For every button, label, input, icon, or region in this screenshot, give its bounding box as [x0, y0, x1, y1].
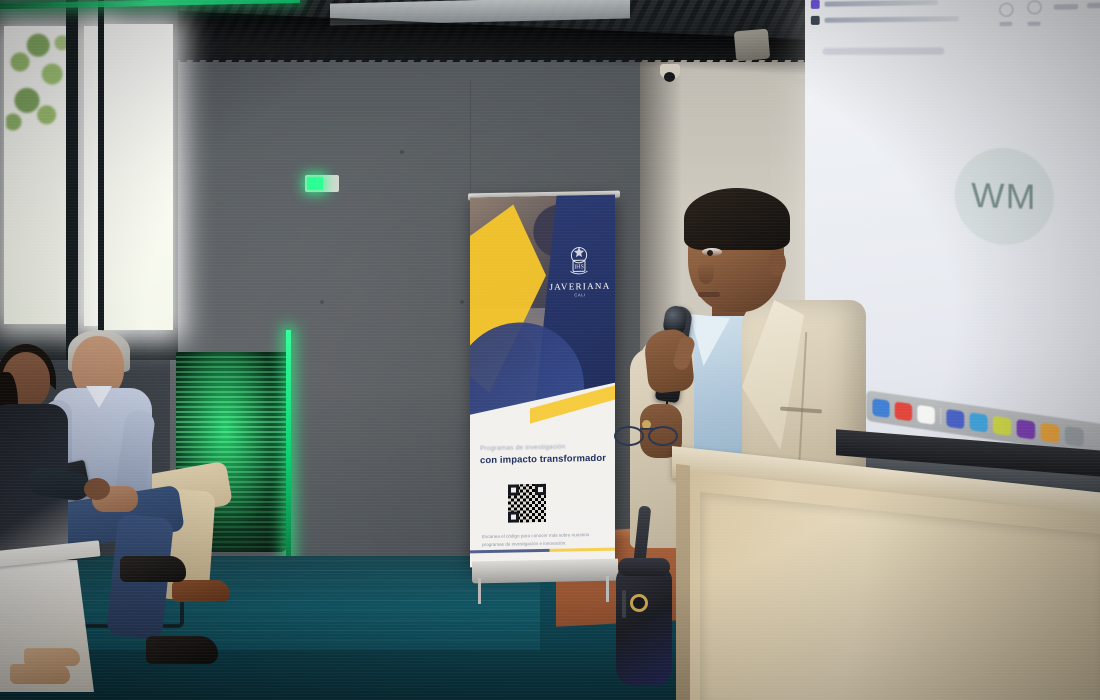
wall-speaker — [734, 29, 770, 62]
notion-icon[interactable] — [993, 415, 1011, 436]
louvre-slat — [176, 461, 288, 463]
banner-leg — [478, 578, 481, 604]
banner-logo-word: JAVERIANA — [546, 281, 614, 292]
louvre-slat — [176, 451, 288, 453]
presenter-mouth — [698, 292, 720, 297]
wall-dot — [320, 300, 324, 304]
window-pane — [103, 24, 173, 330]
bookmark-label — [825, 0, 938, 7]
louvre-slat — [176, 406, 288, 408]
bookmark-label — [825, 16, 959, 23]
bag-top — [618, 558, 670, 576]
presenter-nose — [698, 262, 714, 284]
audience-man-shoe — [120, 556, 186, 582]
louvre-slat — [176, 441, 288, 443]
banner-leg — [606, 576, 609, 602]
wall-dot — [400, 150, 404, 154]
louvre-slat — [176, 381, 288, 383]
toolbar-caption — [1027, 22, 1040, 26]
audience-man-shoe — [172, 580, 230, 602]
banner-base — [472, 559, 618, 584]
avatar: WM — [955, 147, 1054, 247]
audience-woman-sandal — [10, 664, 70, 684]
louvre-slat — [176, 456, 288, 458]
photos-icon[interactable] — [970, 412, 988, 432]
notes-icon[interactable] — [917, 404, 935, 424]
bookmark-favicon — [811, 0, 820, 9]
bookmark-row — [811, 0, 985, 9]
browser-bookmarks-bar — [811, 0, 985, 34]
avatar-initials: WM — [971, 176, 1036, 218]
audience-man-shoe — [146, 636, 218, 664]
louvre-slat — [176, 361, 288, 363]
podium-edge — [676, 464, 690, 700]
chrome-icon[interactable] — [1041, 422, 1060, 443]
finder-icon[interactable] — [872, 398, 889, 418]
bag-eyelet-icon — [630, 594, 648, 612]
green-led-strip-vertical — [286, 330, 291, 580]
eyeglasses-bridge — [640, 428, 654, 430]
louvre-slat — [176, 431, 288, 433]
louvre-slat — [176, 416, 288, 418]
presenter-pupil — [707, 250, 713, 256]
wall-dot — [460, 300, 464, 304]
louvre-slat — [176, 426, 288, 428]
bookmark-row — [811, 14, 985, 25]
settings-icon[interactable] — [1065, 425, 1084, 446]
toolbar-label — [1087, 3, 1100, 9]
bag-zipper — [622, 590, 626, 618]
share-icon — [1027, 0, 1041, 14]
louvre-slat — [176, 366, 288, 368]
banner-tagline-large: con impacto transformador — [480, 453, 610, 466]
presenter-ear — [768, 250, 786, 276]
search-field[interactable] — [823, 47, 945, 55]
louvre-slat — [176, 391, 288, 393]
photo-scene: WM IHS JAVERIANA CALI Programas de inve — [0, 0, 1100, 700]
louvre-slat — [176, 386, 288, 388]
toolbar-label — [1054, 4, 1078, 10]
louvre-slat — [176, 371, 288, 373]
audience-woman-hand — [84, 478, 110, 500]
louvre-slat — [176, 411, 288, 413]
security-camera-icon — [660, 64, 680, 78]
roll-up-banner: IHS JAVERIANA CALI Programas de investig… — [470, 195, 615, 568]
bookmark-favicon — [811, 16, 820, 25]
user-circle-icon — [999, 3, 1013, 17]
louvre-slat — [176, 396, 288, 398]
pdf-icon[interactable] — [895, 401, 912, 421]
banner-footnote: Escanea el código para conocer más sobre… — [482, 531, 602, 549]
svg-text:IHS: IHS — [574, 264, 584, 270]
window-wall — [0, 0, 178, 360]
dock-separator — [940, 408, 941, 425]
emergency-exit-light — [305, 175, 339, 192]
louvre-slat — [176, 446, 288, 448]
louvre-slat — [176, 376, 288, 378]
bag — [616, 566, 672, 686]
louvre-slat — [176, 436, 288, 438]
qr-code — [508, 484, 546, 523]
slack-icon[interactable] — [1017, 419, 1035, 440]
toolbar-caption — [999, 22, 1012, 26]
window-mullion — [66, 0, 78, 360]
louvre-slat — [176, 421, 288, 423]
louvre-slat — [176, 401, 288, 403]
window-mullion — [98, 0, 104, 360]
louvre-slat — [176, 356, 288, 358]
teams-icon[interactable] — [946, 408, 964, 428]
floor-front — [0, 650, 700, 700]
javeriana-crest-icon: IHS — [562, 243, 596, 278]
